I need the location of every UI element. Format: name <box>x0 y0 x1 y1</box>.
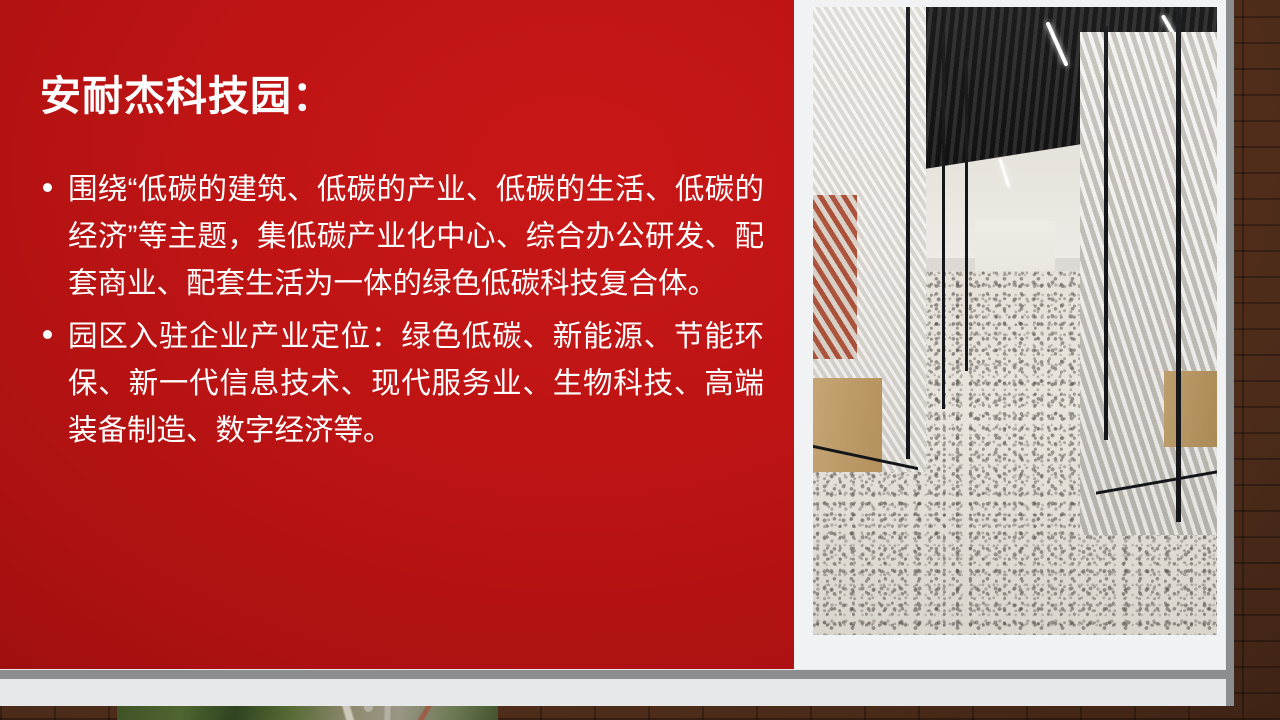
list-item: 围绕“低碳的建筑、低碳的产业、低碳的生活、低碳的经济”等主题，集低碳产业化中心、… <box>34 166 764 307</box>
list-item-text: 围绕“低碳的建筑、低碳的产业、低碳的生活、低碳的经济”等主题，集低碳产业化中心、… <box>68 173 764 300</box>
list-item-text: 园区入驻企业产业定位：绿色低碳、新能源、节能环保、新一代信息技术、现代服务业、生… <box>68 320 764 447</box>
bullet-list: 围绕“低碳的建筑、低碳的产业、低碳的生活、低碳的经济”等主题，集低碳产业化中心、… <box>34 166 764 460</box>
corridor-illustration <box>813 7 1217 635</box>
red-content-panel: 安耐杰科技园： 围绕“低碳的建筑、低碳的产业、低碳的生活、低碳的经济”等主题，集… <box>0 0 795 669</box>
page-title: 安耐杰科技园： <box>40 74 740 119</box>
bullet-dot-icon <box>43 183 52 192</box>
slide-right-gutter-bar <box>1226 0 1234 706</box>
photo-frame <box>794 0 1225 669</box>
office-corridor-photo <box>813 7 1217 635</box>
photo-tint-overlay <box>813 7 1217 635</box>
slide-canvas: 安耐杰科技园： 围绕“低碳的建筑、低碳的产业、低碳的生活、低碳的经济”等主题，集… <box>0 0 1280 720</box>
bullet-dot-icon <box>43 330 52 339</box>
slide-bottom-shadow-bar <box>0 670 1233 679</box>
list-item: 园区入驻企业产业定位：绿色低碳、新能源、节能环保、新一代信息技术、现代服务业、生… <box>34 313 764 454</box>
